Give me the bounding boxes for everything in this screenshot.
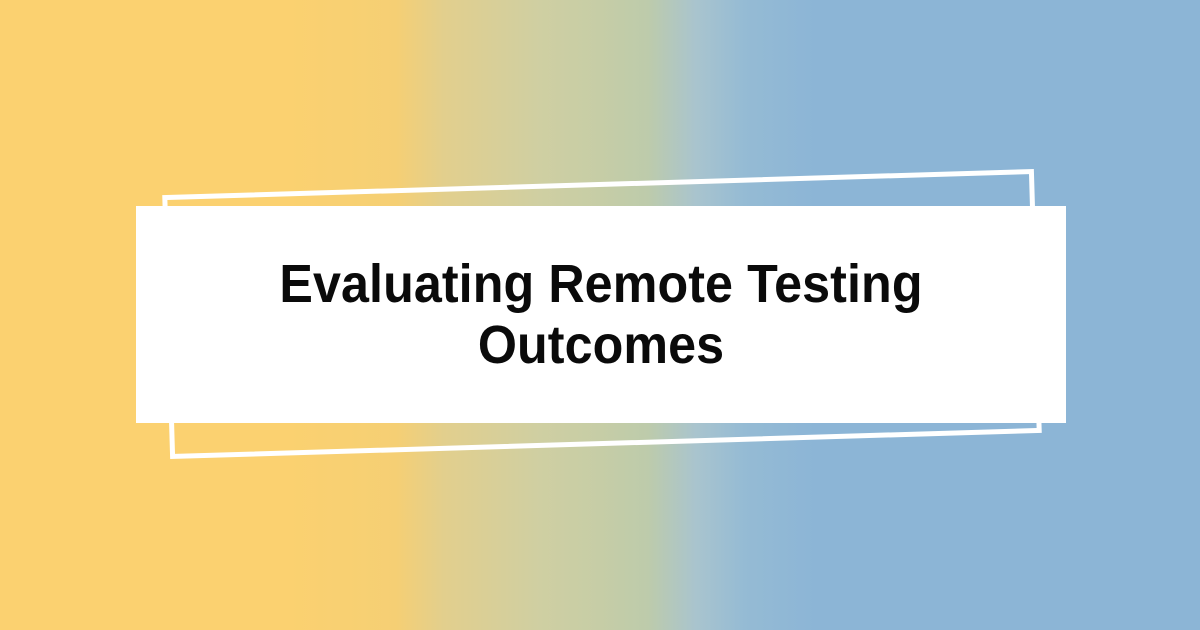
page-title: Evaluating Remote Testing Outcomes — [206, 254, 997, 375]
slide-canvas: Evaluating Remote Testing Outcomes — [0, 0, 1200, 630]
title-card: Evaluating Remote Testing Outcomes — [136, 206, 1066, 423]
